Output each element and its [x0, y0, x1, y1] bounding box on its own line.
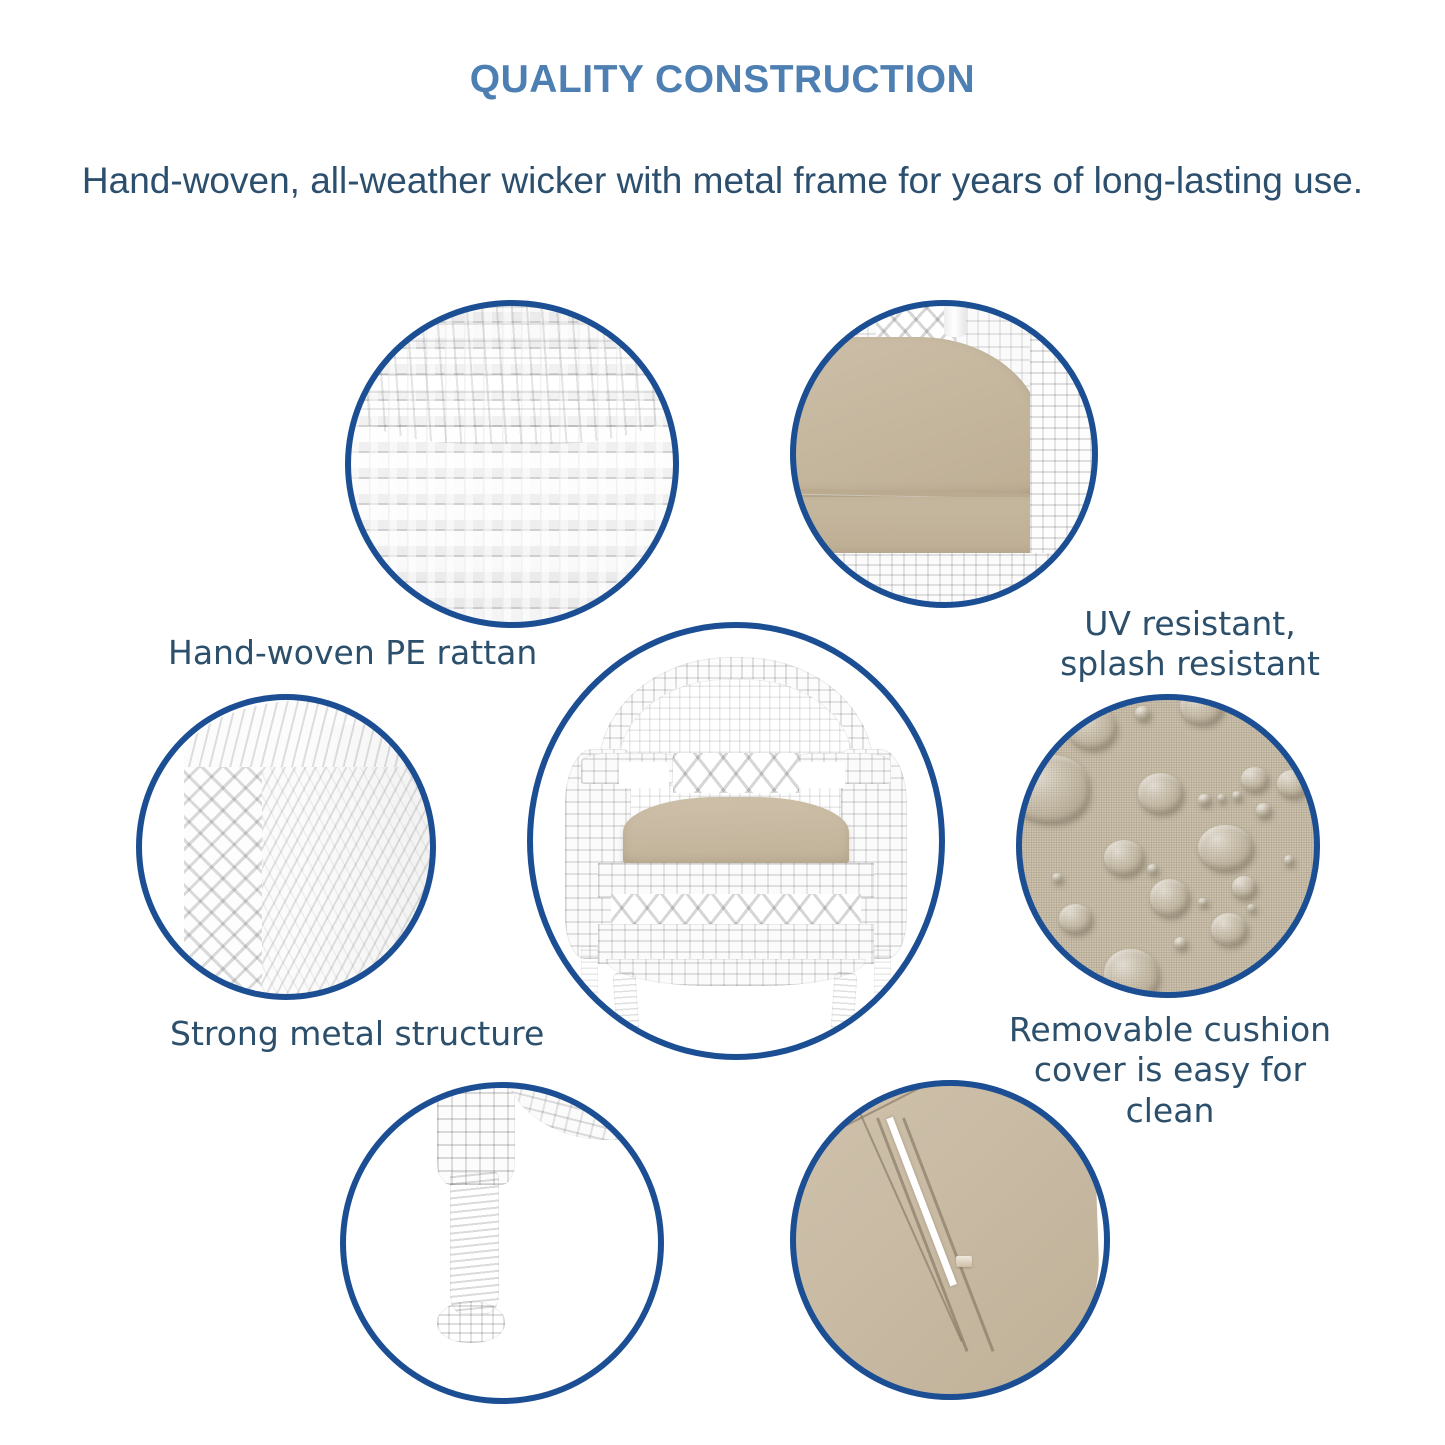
water-droplets-closeup: [1016, 694, 1320, 998]
seat-cushion-side: [790, 497, 1049, 559]
water-droplet: [1150, 879, 1190, 915]
arm-gap-right: [795, 762, 845, 788]
leg-ball-foot: [437, 1301, 505, 1343]
feature-image-chair-leg-detail: [340, 1082, 664, 1404]
leg-wrapped-shaft: [450, 1172, 499, 1314]
chair-foot-front-left: [611, 1038, 638, 1056]
water-droplet: [1138, 773, 1184, 813]
infographic-page: QUALITY CONSTRUCTION Hand-woven, all-wea…: [0, 0, 1445, 1445]
water-droplet: [1016, 755, 1089, 822]
water-droplet: [1211, 913, 1247, 945]
chair-back-post: [944, 300, 966, 337]
feature-image-cushion-zipper-detail: [790, 1080, 1110, 1400]
chair-front-apron-bottom: [598, 924, 874, 963]
cushion-fabric-weave: [1016, 694, 1320, 998]
chair-photo: [527, 622, 945, 1060]
zipper-pull-slider: [956, 1256, 972, 1267]
chair-leg-rear-left: [581, 946, 598, 999]
chair-seat-cushion: [623, 797, 849, 867]
water-droplet: [1217, 794, 1226, 802]
water-droplet: [1068, 706, 1117, 749]
arm-corner-closeup: [136, 694, 436, 1000]
water-droplet: [1198, 794, 1210, 805]
chair-skirt: [606, 959, 865, 985]
wicker-armchair: [527, 622, 945, 1060]
water-droplet: [1256, 803, 1271, 816]
chair-foot-front-right: [832, 1038, 859, 1056]
cushion-closeup: [790, 300, 1098, 608]
feature-image-removable-cushion-cover: [1016, 694, 1320, 998]
feature-image-full-chair: [527, 622, 945, 1060]
arm-gap-left: [619, 762, 669, 788]
caption-uv-splash-resistant: UV resistant, splash resistant: [1035, 604, 1345, 685]
water-droplet: [1104, 949, 1159, 998]
water-droplet: [1104, 840, 1144, 875]
chair-leg-closeup: [340, 1082, 664, 1404]
water-droplet: [1198, 898, 1207, 906]
chair-back-lattice: [673, 753, 798, 792]
feature-image-hand-woven-pe-rattan: [345, 300, 679, 628]
water-droplet: [1247, 904, 1256, 912]
water-droplet: [1232, 876, 1256, 897]
curved-weave-top: [345, 300, 679, 444]
water-droplet: [1059, 904, 1092, 933]
rattan-weave-texture: [345, 300, 679, 628]
zipper-closeup: [790, 1080, 1110, 1400]
wicker-front-apron: [790, 553, 1098, 608]
open-weave-left-face: [184, 755, 262, 1000]
open-weave-pattern: [184, 755, 262, 1000]
feature-image-strong-metal-structure: [136, 694, 436, 1000]
arm-shading: [301, 725, 436, 1000]
water-droplet: [1198, 825, 1253, 871]
feature-image-uv-splash-resistant: [790, 300, 1098, 608]
chair-leg-front-left: [612, 972, 640, 1048]
chair-leg-front-right: [830, 972, 858, 1048]
leg-upper-weave: [437, 1082, 515, 1185]
water-droplet: [1135, 706, 1150, 720]
water-droplet: [1277, 770, 1307, 797]
page-subtitle: Hand-woven, all-weather wicker with meta…: [0, 160, 1445, 202]
caption-strong-metal-structure: Strong metal structure: [170, 1014, 590, 1054]
page-title: QUALITY CONSTRUCTION: [0, 58, 1445, 102]
water-droplet: [1147, 864, 1158, 874]
chair-leg-rear-right: [874, 946, 891, 999]
wicker-side-panel: [1030, 300, 1098, 583]
water-droplet: [1284, 855, 1295, 865]
